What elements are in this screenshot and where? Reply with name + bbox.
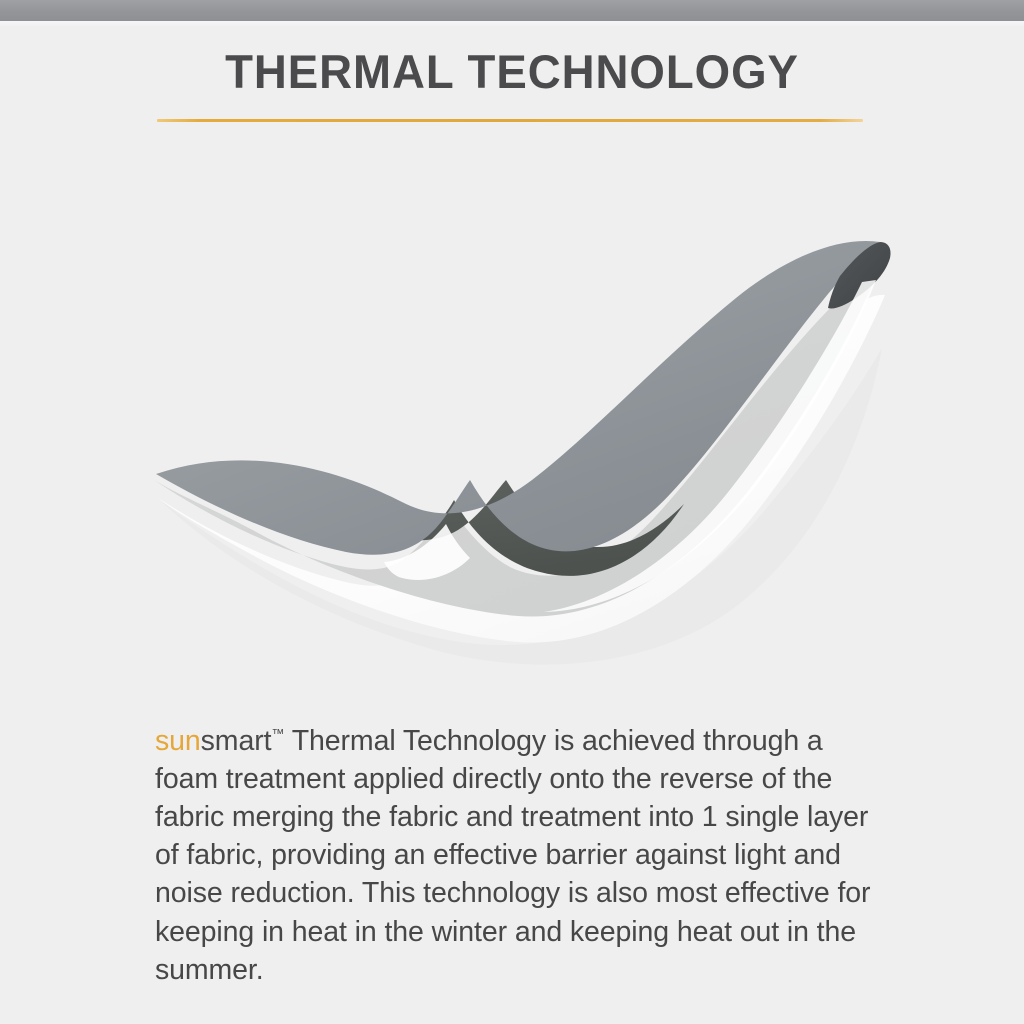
- page-title: THERMAL TECHNOLOGY: [15, 44, 1008, 100]
- window-top-bar-edge: [0, 21, 1024, 26]
- body-paragraph: sunsmart™ Thermal Technology is achieved…: [155, 715, 871, 989]
- brand-smart-text: smart: [201, 725, 272, 757]
- trademark-icon: ™: [271, 726, 284, 741]
- window-top-bar: [0, 0, 1024, 21]
- page-root: THERMAL TECHNOLOGY: [0, 0, 1024, 1024]
- brand-sun-text: sun: [155, 725, 201, 757]
- title-underline-rule: [157, 119, 863, 122]
- fabric-layers-illustration: [140, 180, 900, 670]
- body-paragraph-text: Thermal Technology is achieved through a…: [155, 725, 870, 986]
- sunsmart-logo: sunsmart™: [155, 725, 284, 757]
- header-block: THERMAL TECHNOLOGY: [0, 44, 1024, 100]
